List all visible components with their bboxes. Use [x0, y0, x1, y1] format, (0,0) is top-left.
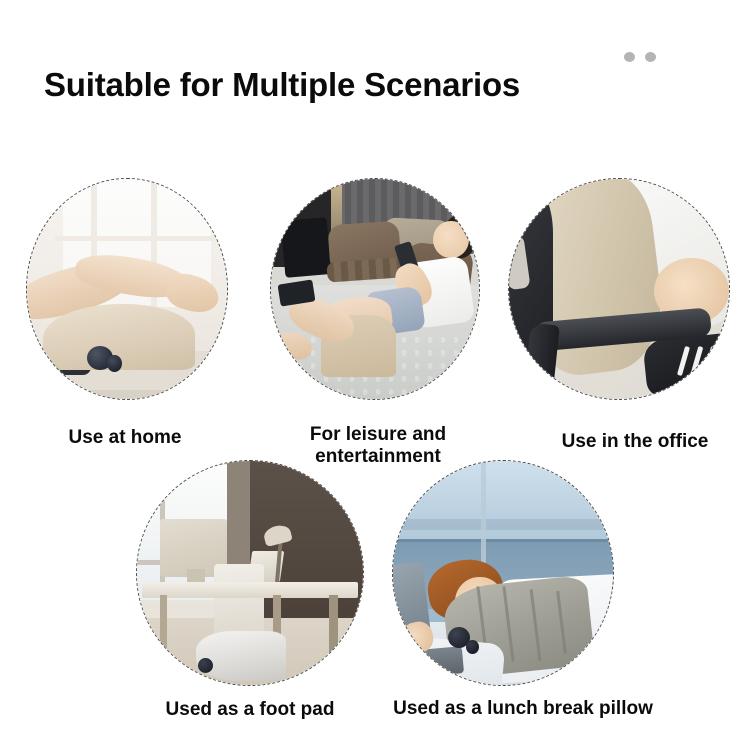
scene-use-at-home: [27, 179, 227, 399]
desk-leg: [160, 595, 167, 662]
scene-lunch-break-pillow: [393, 461, 613, 685]
dark-furniture-secondary: [281, 217, 332, 278]
caption-foot-pad: Used as a foot pad: [130, 699, 370, 721]
pagination-dot-1[interactable]: [624, 52, 635, 62]
pillow-valve-small-icon: [107, 355, 122, 372]
infographic-page: Suitable for Multiple Scenarios: [0, 0, 750, 750]
distant-shore: [393, 519, 613, 530]
sofa-base: [27, 390, 227, 399]
window-mullion-horizontal: [55, 236, 215, 241]
pagination-dot-2[interactable]: [645, 52, 656, 62]
caption-use-at-home: Use at home: [25, 427, 225, 449]
page-title: Suitable for Multiple Scenarios: [44, 66, 520, 104]
caption-lunch-break-pillow: Used as a lunch break pillow: [378, 698, 668, 720]
face: [433, 221, 468, 258]
pillow-valve-small-icon: [466, 640, 479, 654]
caption-use-in-office: Use in the office: [528, 431, 742, 453]
scenario-image-leisure-entertainment: [270, 178, 480, 400]
desk-top: [142, 582, 359, 598]
scene-foot-pad: [137, 461, 363, 685]
foot-pad-cushion: [196, 631, 286, 680]
scene-use-in-office: [509, 179, 729, 399]
scenario-image-use-in-office: [508, 178, 730, 400]
shoe: [643, 333, 729, 399]
scenario-image-use-at-home: [26, 178, 228, 400]
scene-leisure-entertainment: [271, 179, 479, 399]
office-chair: [214, 564, 264, 640]
pagination-dots[interactable]: [624, 52, 656, 62]
desk-leg: [329, 595, 338, 662]
scenario-image-foot-pad: [136, 460, 364, 686]
scenario-image-lunch-break-pillow: [392, 460, 614, 686]
